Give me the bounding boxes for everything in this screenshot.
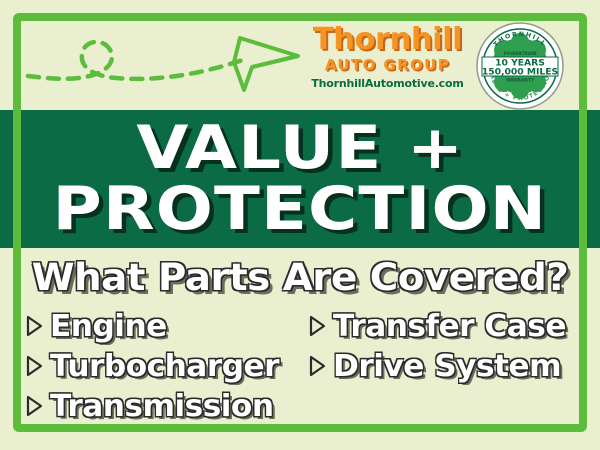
coverage-question: What Parts Are Covered? <box>0 256 600 299</box>
triangle-right-icon <box>26 355 43 377</box>
coverage-item-label: Drive System <box>333 349 561 384</box>
coverage-left-column: Engine Turbocharger Transmission <box>26 306 291 426</box>
thornhill-auto-group-logo: Thornhill AUTO GROUP ThornhillAutomotive… <box>305 24 470 104</box>
list-item: Transmission <box>26 386 291 426</box>
logo-subtitle: AUTO GROUP <box>305 57 470 74</box>
header-area: Thornhill AUTO GROUP ThornhillAutomotive… <box>0 0 600 110</box>
warranty-seal-badge: THORNHILL VALUE + PROTECTION POWERTRAIN … <box>476 22 564 110</box>
svg-text:150,000 MILES: 150,000 MILES <box>482 66 558 77</box>
svg-text:POWERTRAIN: POWERTRAIN <box>503 51 536 57</box>
value-protection-banner: VALUE + PROTECTION <box>0 110 600 248</box>
coverage-item-label: Transmission <box>50 389 274 424</box>
banner-headline-line2: PROTECTION <box>53 182 548 237</box>
triangle-right-icon <box>26 315 43 337</box>
coverage-item-label: Transfer Case <box>333 309 566 344</box>
triangle-right-icon <box>26 395 43 417</box>
coverage-columns: Engine Turbocharger Transmission Transfe… <box>0 306 600 426</box>
logo-wordmark: Thornhill <box>303 24 471 56</box>
triangle-right-icon <box>309 315 326 337</box>
coverage-right-column: Transfer Case Drive System <box>291 306 574 426</box>
list-item: Drive System <box>309 346 574 386</box>
coverage-item-label: Engine <box>50 309 167 344</box>
coverage-section: What Parts Are Covered? Engine Turbochar… <box>0 248 600 450</box>
list-item: Engine <box>26 306 291 346</box>
dashed-loop-arrow-doodle <box>20 14 310 106</box>
banner-headline-line1: VALUE + <box>136 121 464 176</box>
logo-website-url: ThornhillAutomotive.com <box>305 77 470 90</box>
svg-text:WARRANTY: WARRANTY <box>506 78 535 84</box>
list-item: Turbocharger <box>26 346 291 386</box>
promo-banner-stage: Thornhill AUTO GROUP ThornhillAutomotive… <box>0 0 600 450</box>
coverage-item-label: Turbocharger <box>50 349 279 384</box>
triangle-right-icon <box>309 355 326 377</box>
list-item: Transfer Case <box>309 306 574 346</box>
